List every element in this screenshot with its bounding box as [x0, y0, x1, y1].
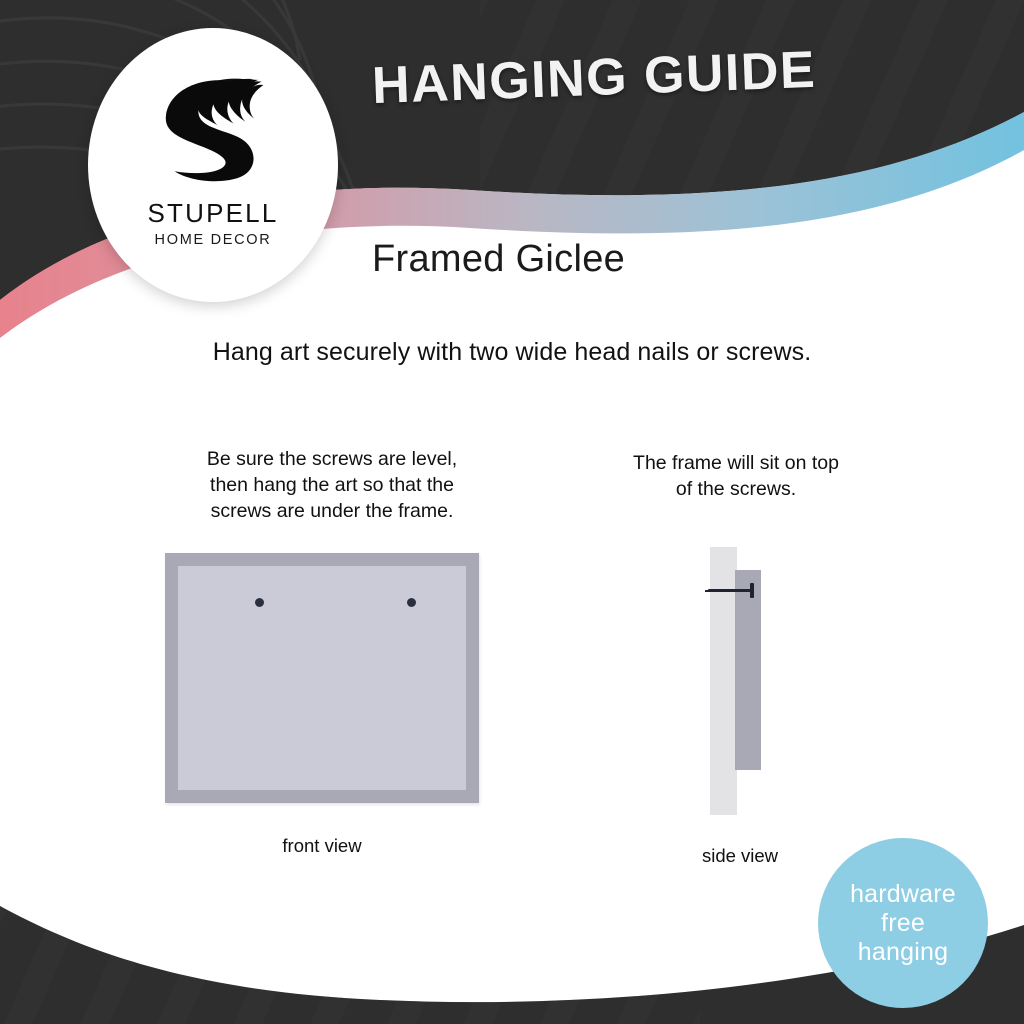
badge-line-3: hanging — [858, 938, 948, 967]
front-view-label: front view — [165, 835, 479, 857]
front-view-frame-diagram — [165, 553, 479, 803]
brand-name: STUPELL — [147, 198, 278, 229]
side-view-diagram — [700, 540, 820, 825]
side-view-frame — [735, 570, 761, 770]
brand-logo-badge: STUPELL HOME DECOR — [88, 28, 338, 302]
product-type-subtitle: Framed Giclee — [372, 238, 625, 281]
side-caption-line-1: The frame will sit on top — [580, 450, 892, 476]
page-title: HANGING GUIDE — [371, 40, 817, 116]
side-view-wall — [710, 547, 737, 815]
badge-line-1: hardware — [850, 880, 956, 909]
nail-head-icon — [750, 583, 754, 598]
front-caption-line-1: Be sure the screws are level, — [148, 446, 516, 472]
side-view-caption: The frame will sit on top of the screws. — [580, 450, 892, 502]
front-view-mat — [178, 566, 466, 790]
nail-shaft-icon — [708, 589, 753, 592]
brand-tagline: HOME DECOR — [155, 232, 272, 248]
side-caption-line-2: of the screws. — [580, 476, 892, 502]
front-caption-line-2: then hang the art so that the — [148, 472, 516, 498]
instruction-lead: Hang art securely with two wide head nai… — [0, 338, 1024, 367]
front-caption-line-3: screws are under the frame. — [148, 498, 516, 524]
side-view-label: side view — [660, 845, 820, 867]
front-view-caption: Be sure the screws are level, then hang … — [148, 446, 516, 524]
screw-hole-left-icon — [255, 598, 264, 607]
stupell-swoosh-logo-icon — [147, 62, 279, 190]
hardware-free-badge: hardware free hanging — [818, 838, 988, 1008]
hanging-guide-page: HANGING GUIDE STUPELL HOME DECOR Framed … — [0, 0, 1024, 1024]
badge-line-2: free — [881, 909, 925, 938]
screw-hole-right-icon — [407, 598, 416, 607]
